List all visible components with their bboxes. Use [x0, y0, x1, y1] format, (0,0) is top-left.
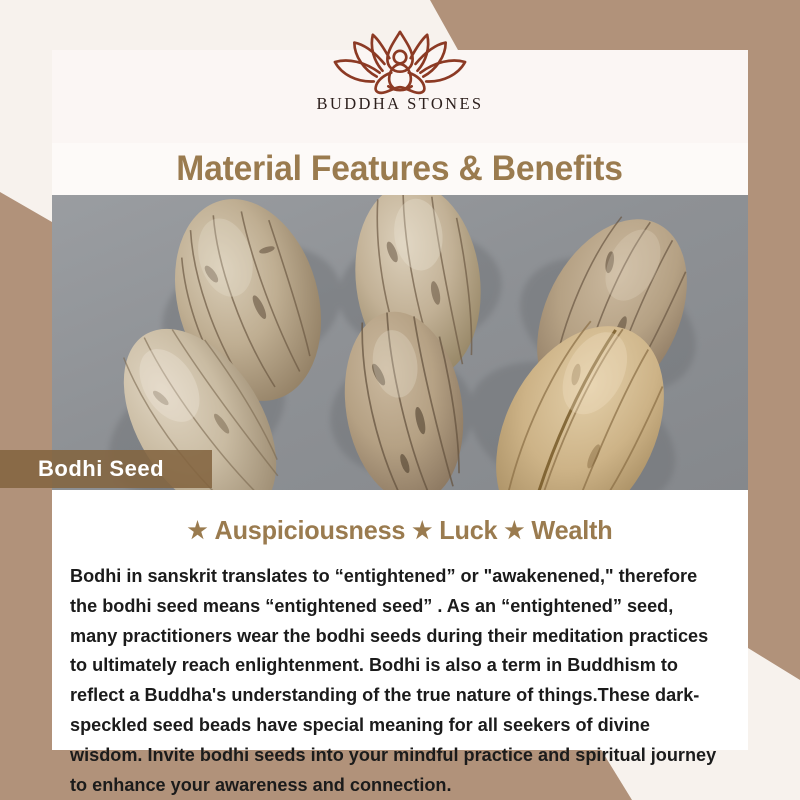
- photo-caption-label: Bodhi Seed: [0, 456, 164, 482]
- star-icon-2: ★: [412, 517, 432, 544]
- benefits-tagline: ★ Auspiciousness ★ Luck ★ Wealth: [62, 490, 737, 546]
- poster: BUDDHA STONES Material Features & Benefi…: [0, 0, 800, 800]
- brand-name: BUDDHA STONES: [316, 94, 483, 114]
- star-icon-3: ★: [504, 517, 524, 544]
- benefit-auspiciousness: Auspiciousness: [215, 515, 406, 545]
- page-title: Material Features & Benefits: [177, 149, 624, 189]
- photo-caption-bar: Bodhi Seed: [0, 450, 212, 488]
- seeds-illustration: [52, 195, 748, 490]
- frame-right-band: [748, 0, 800, 680]
- brand-logo-block: BUDDHA STONES: [52, 50, 748, 145]
- bodhi-seeds-photo: [52, 195, 748, 490]
- star-icon-1: ★: [188, 517, 208, 544]
- description-panel: ★ Auspiciousness ★ Luck ★ Wealth Bodhi i…: [52, 490, 748, 750]
- frame-left-band: [0, 192, 52, 800]
- lotus-meditation-icon: [325, 28, 475, 96]
- description-text: Bodhi in sanskrit translates to “entight…: [70, 561, 720, 800]
- benefit-wealth: Wealth: [531, 515, 612, 545]
- benefit-luck: Luck: [439, 515, 497, 545]
- title-banner: Material Features & Benefits: [52, 143, 748, 195]
